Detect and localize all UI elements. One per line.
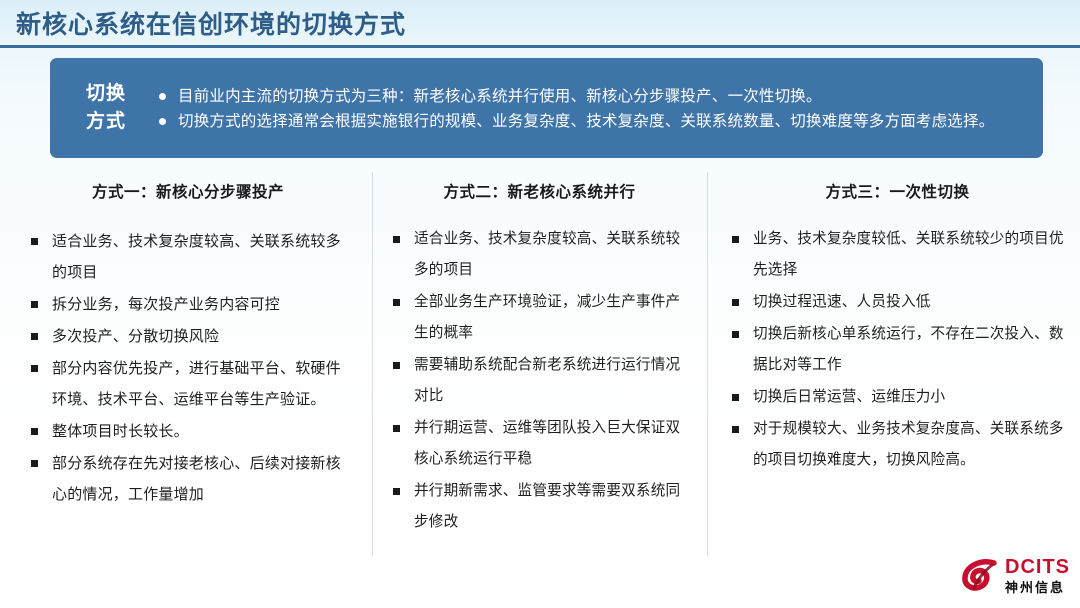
square-bullet-icon: [31, 460, 38, 467]
list-item: 并行期运营、运维等团队投入巨大保证双核心系统运行平稳: [390, 413, 689, 475]
list-item-text: 业务、技术复杂度较低、关联系统较少的项目优先选择: [753, 231, 1064, 278]
list-item: 切换后日常运营、运维压力小: [729, 382, 1066, 413]
column-method-2: 方式二：新老核心系统并行 适合业务、技术复杂度较高、关联系统较多的项目 全部业务…: [372, 172, 707, 562]
list-item-text: 整体项目时长较长。: [52, 423, 189, 440]
list-item: 对于规模较大、业务技术复杂度高、关联系统多的项目切换难度大，切换风险高。: [729, 414, 1066, 476]
list-item-text: 部分内容优先投产，进行基础平台、软硬件环境、技术平台、运维平台等生产验证。: [52, 360, 341, 408]
page-title: 新核心系统在信创环境的切换方式: [16, 6, 406, 44]
square-bullet-icon: [31, 238, 38, 245]
column-heading: 方式二：新老核心系统并行: [390, 172, 689, 204]
list-item-text: 切换后新核心单系统运行，不存在二次投入、数据比对等工作: [753, 326, 1064, 373]
square-bullet-icon: [31, 428, 38, 435]
list-item: 部分系统存在先对接老核心、后续对接新核心的情况，工作量增加: [28, 448, 348, 510]
list-item: 全部业务生产环境验证，减少生产事件产生的概率: [390, 287, 689, 349]
list-item: 多次投产、分散切换风险: [28, 321, 348, 352]
summary-callout-box: 切换 方式 目前业内主流的切换方式为三种：新老核心系统并行使用、新核心分步骤投产…: [50, 58, 1043, 158]
column-heading: 方式一：新核心分步骤投产: [28, 172, 348, 204]
square-bullet-icon: [393, 362, 400, 369]
column-bullet-list: 业务、技术复杂度较低、关联系统较少的项目优先选择 切换过程迅速、人员投入低 切换…: [729, 224, 1066, 476]
title-underline: [0, 45, 1080, 48]
summary-bullet-text: 切换方式的选择通常会根据实施银行的规模、业务复杂度、技术复杂度、关联系统数量、切…: [178, 113, 994, 130]
square-bullet-icon: [732, 394, 739, 401]
summary-label-line-2: 方式: [56, 108, 156, 136]
list-item-text: 并行期运营、运维等团队投入巨大保证双核心系统运行平稳: [414, 420, 680, 467]
list-item: 部分内容优先投产，进行基础平台、软硬件环境、技术平台、运维平台等生产验证。: [28, 353, 348, 415]
square-bullet-icon: [732, 236, 739, 243]
list-item: 切换后新核心单系统运行，不存在二次投入、数据比对等工作: [729, 319, 1066, 381]
logo-name-en: DCITS: [1005, 557, 1070, 577]
list-item-text: 需要辅助系统配合新老系统进行运行情况对比: [414, 357, 680, 404]
list-item-text: 多次投产、分散切换风险: [52, 328, 219, 345]
square-bullet-icon: [393, 488, 400, 495]
square-bullet-icon: [393, 425, 400, 432]
square-bullet-icon: [31, 333, 38, 340]
column-method-3: 方式三：一次性切换 业务、技术复杂度较低、关联系统较少的项目优先选择 切换过程迅…: [707, 172, 1080, 562]
summary-label: 切换 方式: [50, 80, 156, 136]
column-bullet-list: 适合业务、技术复杂度较高、关联系统较多的项目 拆分业务，每次投产业务内容可控 多…: [28, 226, 348, 510]
square-bullet-icon: [31, 365, 38, 372]
summary-bullet: 切换方式的选择通常会根据实施银行的规模、业务复杂度、技术复杂度、关联系统数量、切…: [156, 109, 1027, 134]
list-item-text: 全部业务生产环境验证，减少生产事件产生的概率: [414, 294, 680, 341]
list-item-text: 部分系统存在先对接老核心、后续对接新核心的情况，工作量增加: [52, 455, 341, 503]
list-item: 并行期新需求、监管要求等需要双系统同步修改: [390, 476, 689, 538]
list-item-text: 拆分业务，每次投产业务内容可控: [52, 296, 280, 313]
list-item: 需要辅助系统配合新老系统进行运行情况对比: [390, 350, 689, 412]
round-bullet-icon: [159, 118, 166, 125]
list-item: 业务、技术复杂度较低、关联系统较少的项目优先选择: [729, 224, 1066, 286]
column-bullet-list: 适合业务、技术复杂度较高、关联系统较多的项目 全部业务生产环境验证，减少生产事件…: [390, 224, 689, 538]
column-heading: 方式三：一次性切换: [729, 172, 1066, 204]
list-item: 整体项目时长较长。: [28, 416, 348, 447]
logo-name-cn: 神州信息: [1005, 581, 1070, 594]
summary-bullet: 目前业内主流的切换方式为三种：新老核心系统并行使用、新核心分步骤投产、一次性切换…: [156, 84, 1027, 109]
summary-label-line-1: 切换: [56, 80, 156, 108]
square-bullet-icon: [732, 299, 739, 306]
slide-root: 新核心系统在信创环境的切换方式 切换 方式 目前业内主流的切换方式为三种：新老核…: [0, 0, 1080, 608]
list-item-text: 切换过程迅速、人员投入低: [753, 294, 931, 310]
list-item-text: 适合业务、技术复杂度较高、关联系统较多的项目: [414, 231, 680, 278]
square-bullet-icon: [732, 331, 739, 338]
company-logo: DCITS 神州信息: [961, 552, 1070, 598]
comparison-columns: 方式一：新核心分步骤投产 适合业务、技术复杂度较高、关联系统较多的项目 拆分业务…: [0, 172, 1080, 562]
list-item-text: 并行期新需求、监管要求等需要双系统同步修改: [414, 483, 680, 530]
column-method-1: 方式一：新核心分步骤投产 适合业务、技术复杂度较高、关联系统较多的项目 拆分业务…: [0, 172, 372, 562]
round-bullet-icon: [159, 93, 166, 100]
square-bullet-icon: [393, 299, 400, 306]
list-item: 适合业务、技术复杂度较高、关联系统较多的项目: [28, 226, 348, 288]
summary-bullet-text: 目前业内主流的切换方式为三种：新老核心系统并行使用、新核心分步骤投产、一次性切换…: [178, 88, 822, 105]
dcits-swirl-icon: [961, 555, 1001, 595]
list-item-text: 对于规模较大、业务技术复杂度高、关联系统多的项目切换难度大，切换风险高。: [753, 421, 1064, 468]
square-bullet-icon: [732, 426, 739, 433]
list-item: 拆分业务，每次投产业务内容可控: [28, 289, 348, 320]
square-bullet-icon: [393, 236, 400, 243]
square-bullet-icon: [31, 301, 38, 308]
logo-text: DCITS 神州信息: [1005, 557, 1070, 594]
list-item: 适合业务、技术复杂度较高、关联系统较多的项目: [390, 224, 689, 286]
summary-bullet-list: 目前业内主流的切换方式为三种：新老核心系统并行使用、新核心分步骤投产、一次性切换…: [156, 82, 1043, 134]
list-item-text: 切换后日常运营、运维压力小: [753, 389, 945, 405]
list-item: 切换过程迅速、人员投入低: [729, 287, 1066, 318]
list-item-text: 适合业务、技术复杂度较高、关联系统较多的项目: [52, 233, 341, 281]
